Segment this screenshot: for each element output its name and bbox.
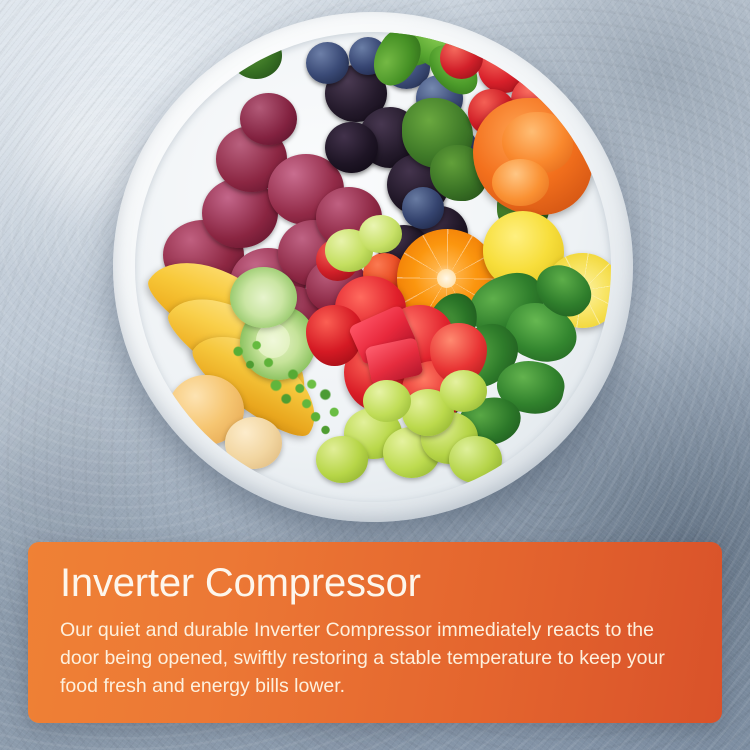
feature-card-title: Inverter Compressor bbox=[60, 562, 694, 605]
promo-banner: Inverter Compressor Our quiet and durabl… bbox=[0, 0, 750, 750]
plate-inner-well bbox=[135, 32, 611, 501]
feature-card: Inverter Compressor Our quiet and durabl… bbox=[28, 542, 722, 723]
feature-card-description: Our quiet and durable Inverter Compresso… bbox=[60, 617, 694, 700]
food-plate bbox=[113, 12, 633, 522]
